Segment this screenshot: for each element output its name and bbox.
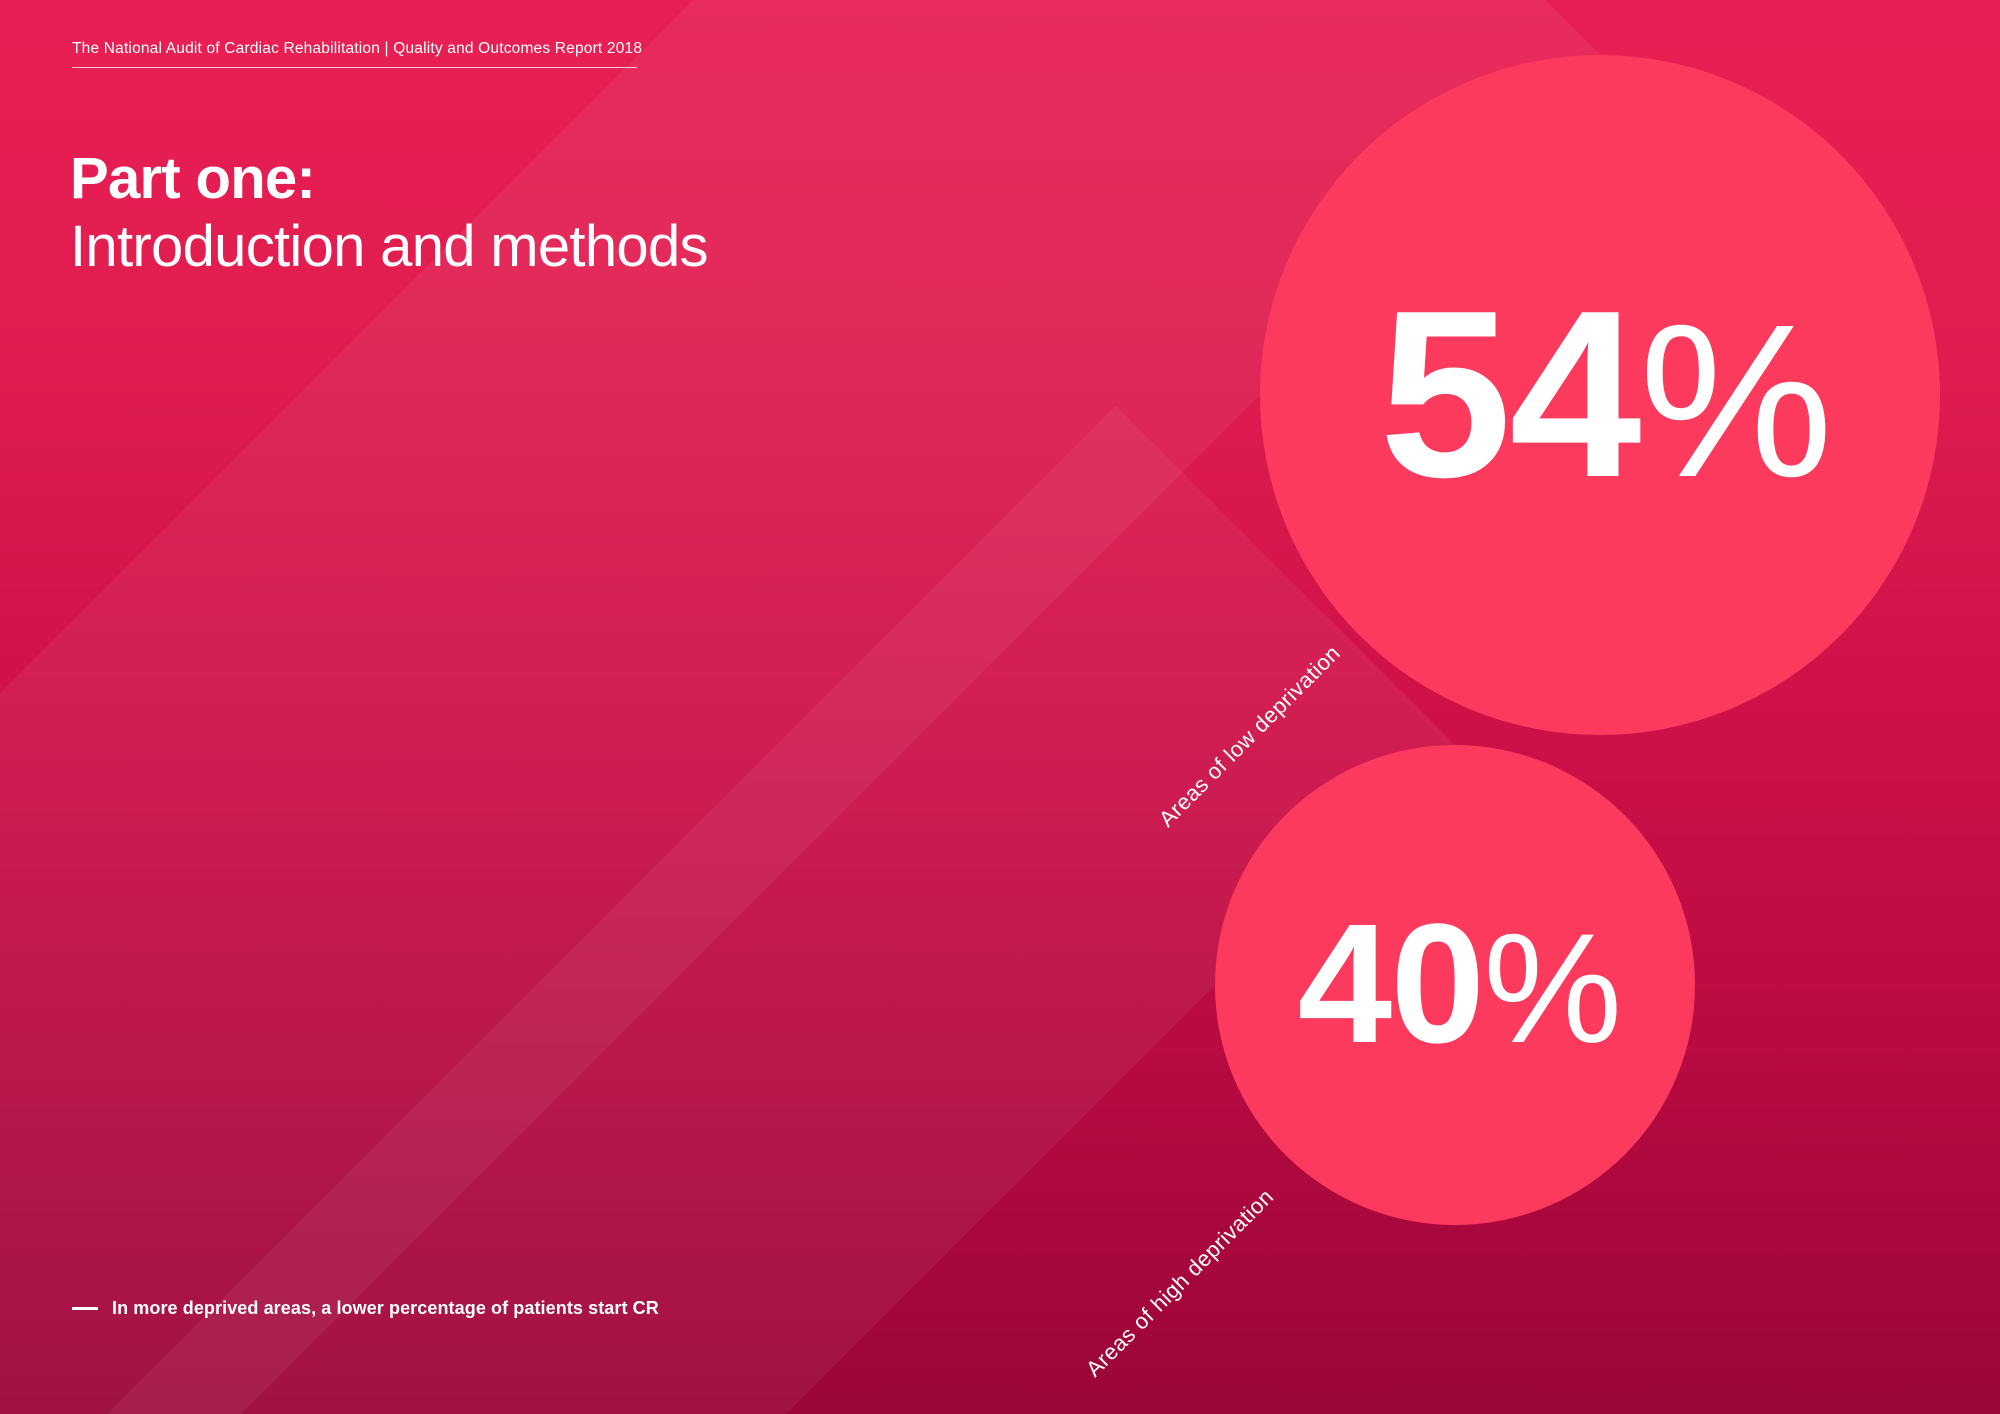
stat-bubble-low-deprivation: 54% <box>1260 55 1940 735</box>
running-head-text: The National Audit of Cardiac Rehabilita… <box>72 40 632 58</box>
stat-label-high-deprivation: Areas of high deprivation <box>1081 1184 1279 1382</box>
page-title-subtitle: Introduction and methods <box>70 215 708 279</box>
stat-value-high-deprivation: 40% <box>1298 904 1621 1066</box>
running-head-rule <box>72 67 637 68</box>
stat-number-low-deprivation: 54 <box>1379 282 1639 508</box>
percent-symbol-high-deprivation: % <box>1483 915 1620 1063</box>
stat-bubble-high-deprivation: 40% <box>1215 745 1695 1225</box>
chart-caption: In more deprived areas, a lower percenta… <box>72 1298 659 1319</box>
report-cover-page: The National Audit of Cardiac Rehabilita… <box>0 0 2000 1414</box>
page-title: Part one: Introduction and methods <box>70 148 708 279</box>
page-title-part: Part one: <box>70 148 708 209</box>
stat-number-high-deprivation: 40 <box>1298 904 1484 1066</box>
running-head: The National Audit of Cardiac Rehabilita… <box>72 40 632 68</box>
dash-icon <box>72 1307 98 1310</box>
stat-value-low-deprivation: 54% <box>1379 282 1830 508</box>
chart-caption-text: In more deprived areas, a lower percenta… <box>112 1298 659 1319</box>
percent-symbol-low-deprivation: % <box>1639 298 1830 505</box>
